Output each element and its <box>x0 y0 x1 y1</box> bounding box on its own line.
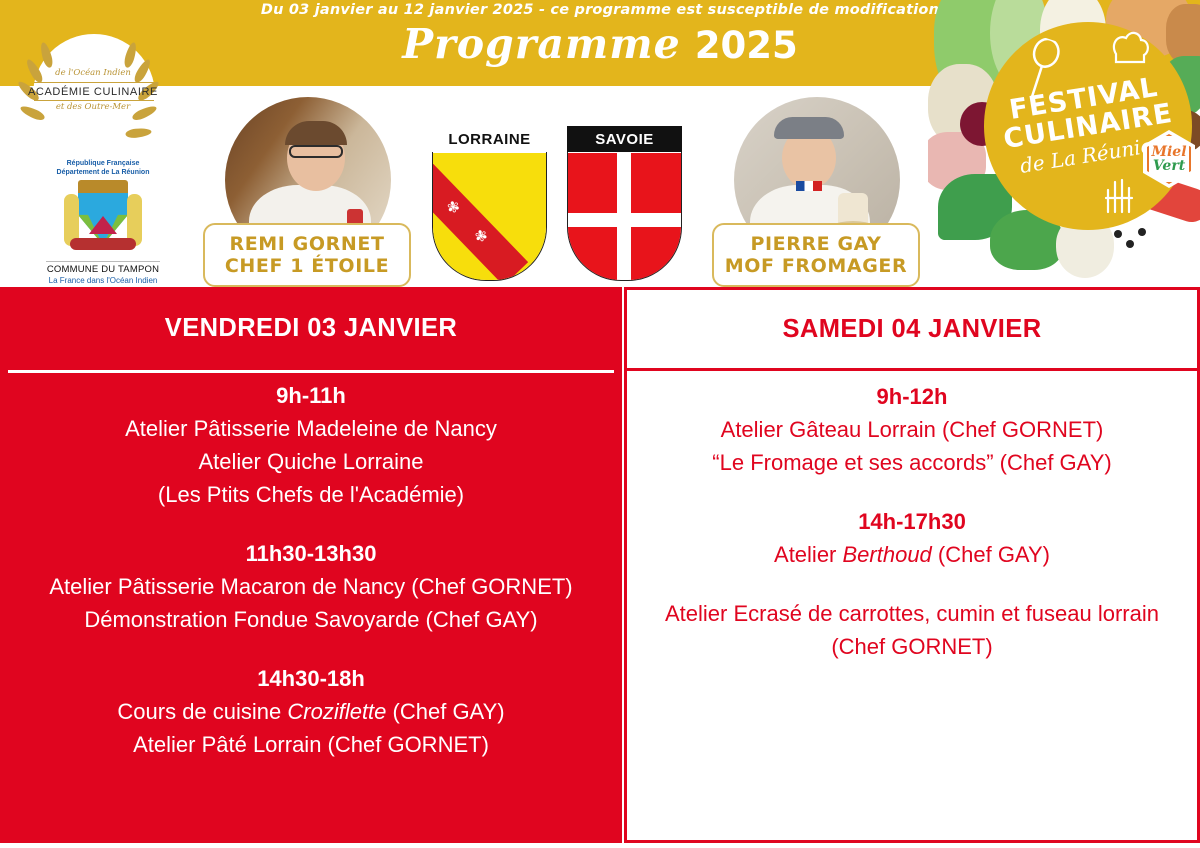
schedule-event: Atelier Quiche Lorraine <box>0 445 622 478</box>
chef-card-gornet: REMI GORNET CHEF 1 ÉTOILE <box>203 97 413 287</box>
day-title: SAMEDI 04 JANVIER <box>782 315 1041 344</box>
schedule-event: Atelier Pâté Lorrain (Chef GORNET) <box>0 728 622 761</box>
logo-rule <box>34 100 154 101</box>
shield-label: SAVOIE <box>567 126 682 152</box>
event-emphasis: Berthoud <box>843 542 932 567</box>
commune-tagline: La France dans l'Océan Indien <box>28 276 178 285</box>
schedule-time: 9h-11h <box>0 379 622 412</box>
academie-culinaire-logo: de l'Océan Indien ACADÉMIE CULINAIRE et … <box>18 26 168 176</box>
mof-collar-icon <box>796 181 822 191</box>
chef-title: CHEF 1 ÉTOILE <box>225 255 389 277</box>
republic-line-1: République Française <box>28 160 178 169</box>
region-shields: ✾ ✾ ✾ LORRAINE SAVOIE <box>432 126 682 286</box>
day-title: VENDREDI 03 JANVIER <box>165 314 457 343</box>
coat-of-arms-icon <box>62 180 144 260</box>
alerion-icon: ✾ <box>443 198 463 217</box>
chef-nameplate-gay: PIERRE GAY MOF FROMAGER <box>712 223 920 287</box>
republic-line: République Française Département de La R… <box>28 160 178 178</box>
chef-nameplate-gornet: REMI GORNET CHEF 1 ÉTOILE <box>203 223 411 287</box>
shield-lorraine: ✾ ✾ ✾ LORRAINE <box>432 126 547 281</box>
schedule-event: Atelier Pâtisserie Madeleine de Nancy <box>0 412 622 445</box>
miel-vert-inner: Miel Vert <box>1147 134 1191 184</box>
miel-word: Miel <box>1151 145 1186 159</box>
schedule-event: Atelier Berthoud (Chef GAY) <box>627 538 1197 571</box>
schedule-time: 9h-12h <box>627 380 1197 413</box>
day-header-saturday: SAMEDI 04 JANVIER <box>627 290 1197 368</box>
schedule-blocks-saturday: 9h-12hAtelier Gâteau Lorrain (Chef GORNE… <box>627 380 1197 689</box>
shield-savoie: SAVOIE <box>567 126 682 281</box>
shield-label: LORRAINE <box>432 126 547 152</box>
schedule-time: 11h30-13h30 <box>0 537 622 570</box>
chef-card-gay: PIERRE GAY MOF FROMAGER <box>712 97 922 287</box>
alerion-icon: ✾ <box>432 169 435 188</box>
schedule-block: 9h-12hAtelier Gâteau Lorrain (Chef GORNE… <box>627 380 1197 479</box>
savoie-cross-horizontal <box>568 213 682 227</box>
chef-name: REMI GORNET <box>229 233 384 255</box>
peppercorn-icon <box>1114 230 1122 238</box>
day-column-saturday: SAMEDI 04 JANVIER 9h-12hAtelier Gâteau L… <box>624 287 1200 843</box>
logo-rule <box>34 82 154 83</box>
chef-title: MOF FROMAGER <box>725 255 907 277</box>
crest-rule <box>46 261 160 262</box>
schedule-event: Atelier Pâtisserie Macaron de Nancy (Che… <box>0 570 622 603</box>
day-column-friday: VENDREDI 03 JANVIER 9h-11hAtelier Pâtiss… <box>0 287 622 843</box>
flat-cap-icon <box>774 117 844 139</box>
alerion-icon: ✾ <box>471 227 491 246</box>
chef-name: PIERRE GAY <box>750 233 881 255</box>
day-header-divider <box>627 368 1197 371</box>
schedule-event: Atelier Gâteau Lorrain (Chef GORNET) <box>627 413 1197 446</box>
fruit-garland-icon <box>70 238 136 250</box>
glasses-icon <box>289 145 343 158</box>
day-header-divider <box>8 370 614 373</box>
programme-year: 2025 <box>695 24 798 67</box>
crown-icon <box>78 180 128 194</box>
schedule-block: Atelier Ecrasé de carrottes, cumin et fu… <box>627 597 1197 663</box>
schedule-event: Cours de cuisine Croziflette (Chef GAY) <box>0 695 622 728</box>
schedule-time: 14h30-18h <box>0 662 622 695</box>
academy-tagline-bottom: et des Outre-Mer <box>18 102 168 112</box>
schedule-event: Démonstration Fondue Savoyarde (Chef GAY… <box>0 603 622 636</box>
festival-culinaire-logo: FESTIVAL CULINAIRE de La Réunion Miel Ve… <box>928 0 1200 287</box>
schedule-block: 9h-11hAtelier Pâtisserie Madeleine de Na… <box>0 379 622 511</box>
day-header-friday: VENDREDI 03 JANVIER <box>0 287 622 370</box>
festival-text: FESTIVAL CULINAIRE de La Réunion <box>969 7 1200 245</box>
event-emphasis: Croziflette <box>287 699 386 724</box>
schedule-block: 14h-17h30Atelier Berthoud (Chef GAY) <box>627 505 1197 571</box>
programme-word: Programme <box>402 20 680 68</box>
academy-name: ACADÉMIE CULINAIRE <box>18 86 168 98</box>
peppercorn-icon <box>1138 228 1146 236</box>
commune-du-tampon-logo: République Française Département de La R… <box>28 160 178 286</box>
republic-line-2: Département de La Réunion <box>28 169 178 178</box>
schedule-event: (Les Ptits Chefs de l'Académie) <box>0 478 622 511</box>
schedule-event: “Le Fromage et ses accords” (Chef GAY) <box>627 446 1197 479</box>
schedule-block: 11h30-13h30Atelier Pâtisserie Macaron de… <box>0 537 622 636</box>
schedule-blocks-friday: 9h-11hAtelier Pâtisserie Madeleine de Na… <box>0 379 622 787</box>
commune-name: COMMUNE DU TAMPON <box>28 264 178 275</box>
poster-header: Du 03 janvier au 12 janvier 2025 - ce pr… <box>0 0 1200 287</box>
peppercorn-icon <box>1126 240 1134 248</box>
vert-word: Vert <box>1153 159 1185 173</box>
schedule-event: Atelier Ecrasé de carrottes, cumin et fu… <box>627 597 1197 663</box>
schedule-time: 14h-17h30 <box>627 505 1197 538</box>
schedule-block: 14h30-18hCours de cuisine Croziflette (C… <box>0 662 622 761</box>
academy-tagline-top: de l'Océan Indien <box>18 68 168 78</box>
